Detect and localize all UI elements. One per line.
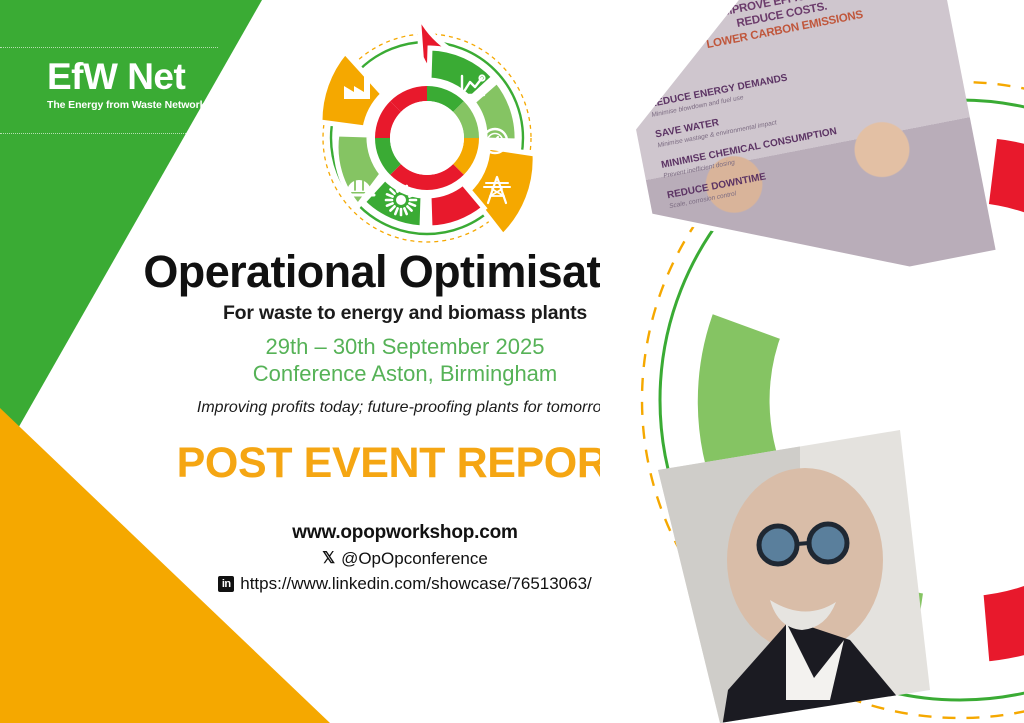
x-twitter-icon: 𝕏 — [322, 551, 335, 567]
portrait-wedge — [640, 420, 950, 723]
post-event-report-cover: EfW Net The Energy from Waste Network — [0, 0, 1024, 723]
bg-wedge-red-bottom-2 — [975, 566, 1024, 670]
dotted-rule-top — [0, 47, 218, 48]
dotted-rule-bottom — [0, 133, 202, 134]
twitter-handle: @OpOpconference — [341, 549, 488, 569]
efw-net-logo[interactable]: EfW Net The Energy from Waste Network — [47, 58, 227, 111]
linkedin-url: https://www.linkedin.com/showcase/765130… — [240, 574, 592, 594]
wheel-center-hole — [390, 101, 464, 175]
sun-turbine-icon — [386, 185, 416, 215]
linkedin-icon: in — [218, 576, 234, 592]
efw-net-logo-subtitle: The Energy from Waste Network — [47, 99, 227, 111]
photo-collage: IMPROVE EFFICIENCY REDUCE COSTS. LOWER C… — [600, 0, 1024, 723]
background-wheel-lower — [600, 0, 1024, 723]
wheel-segment-orange-factory — [320, 52, 383, 128]
operational-optimisation-wheel-logo — [302, 20, 552, 250]
efw-net-logo-title: EfW Net — [47, 58, 227, 96]
